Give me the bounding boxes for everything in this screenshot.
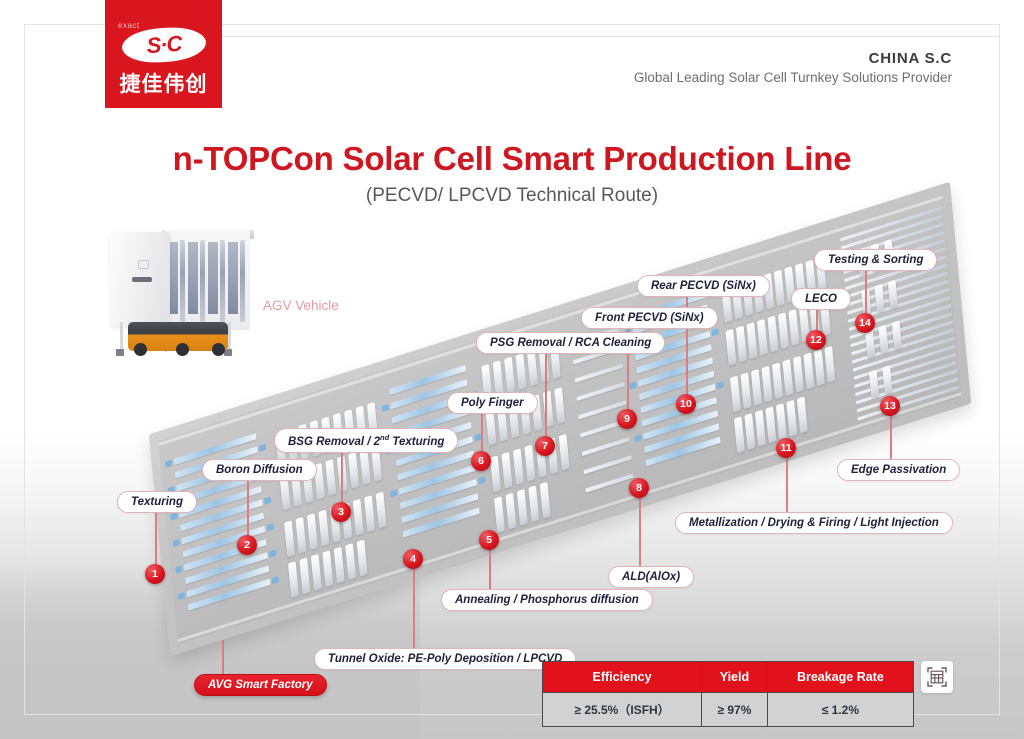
- step-marker-6[interactable]: 6: [471, 451, 491, 471]
- callout-bsg-removal-sup: nd: [380, 433, 389, 442]
- equipment-zone-tunnel-oxide: [481, 341, 577, 529]
- spec-table-header-row: Efficiency Yield Breakage Rate: [543, 662, 913, 693]
- table-grid-icon[interactable]: [921, 661, 953, 693]
- step-marker-7[interactable]: 7: [535, 436, 555, 456]
- callout-boron-diffusion[interactable]: Boron Diffusion: [202, 459, 317, 481]
- callout-front-pecvd[interactable]: Front PECVD (SiNx): [581, 307, 718, 329]
- connector-line-factory: [222, 640, 224, 678]
- callout-tunnel-oxide[interactable]: Tunnel Oxide: PE-Poly Deposition / LPCVD: [314, 648, 576, 670]
- callout-psg-removal[interactable]: PSG Removal / RCA Cleaning: [476, 332, 665, 354]
- connector-line-7: [545, 353, 547, 445]
- step-marker-13[interactable]: 13: [880, 396, 900, 416]
- connector-line-8: [639, 490, 641, 572]
- step-marker-5[interactable]: 5: [479, 530, 499, 550]
- callout-poly-finger[interactable]: Poly Finger: [447, 392, 538, 414]
- spec-header-yield: Yield: [702, 662, 768, 693]
- step-marker-4[interactable]: 4: [403, 549, 423, 569]
- logo-exact-text: exact: [118, 21, 140, 30]
- step-marker-9[interactable]: 9: [617, 409, 637, 429]
- callout-rear-pecvd[interactable]: Rear PECVD (SiNx): [637, 275, 770, 297]
- logo-sc-mark: S·C: [120, 25, 206, 65]
- slide-root: exact S·C 捷佳伟创 CHINA S.C Global Leading …: [0, 0, 1024, 739]
- spec-header-breakage-rate: Breakage Rate: [767, 662, 913, 693]
- page-subtitle: (PECVD/ LPCVD Technical Route): [0, 185, 1024, 207]
- step-marker-8[interactable]: 8: [629, 478, 649, 498]
- callout-bsg-removal-text: BSG Removal / 2: [288, 436, 380, 448]
- connector-line-11: [786, 450, 788, 512]
- callout-ald-alox[interactable]: ALD(AlOx): [608, 566, 694, 588]
- callout-bsg-removal[interactable]: BSG Removal / 2nd Texturing: [274, 428, 458, 453]
- connector-line-4: [413, 560, 415, 650]
- callout-avg-smart-factory[interactable]: AVG Smart Factory: [194, 674, 327, 696]
- callout-bsg-removal-tail: Texturing: [389, 436, 444, 448]
- company-logo: exact S·C 捷佳伟创: [105, 0, 222, 108]
- spec-table: Efficiency Yield Breakage Rate ≥ 25.5%（I…: [542, 661, 914, 727]
- page-title: n-TOPCon Solar Cell Smart Production Lin…: [0, 140, 1024, 178]
- callout-texturing[interactable]: Texturing: [117, 491, 197, 513]
- step-marker-1[interactable]: 1: [145, 564, 165, 584]
- company-tagline: Global Leading Solar Cell Turnkey Soluti…: [634, 70, 952, 85]
- header-divider: [222, 36, 1000, 37]
- step-marker-3[interactable]: 3: [331, 502, 351, 522]
- callout-edge-passivation[interactable]: Edge Passivation: [837, 459, 960, 481]
- equipment-zone-boron-diffusion: [273, 397, 394, 593]
- callout-metallization[interactable]: Metallization / Drying & Firing / Light …: [675, 512, 953, 534]
- step-marker-12[interactable]: 12: [806, 330, 826, 350]
- company-name: CHINA S.C: [634, 50, 952, 67]
- header-text-block: CHINA S.C Global Leading Solar Cell Turn…: [634, 50, 952, 85]
- callout-testing-sorting[interactable]: Testing & Sorting: [814, 249, 937, 271]
- spec-table-row: ≥ 25.5%（ISFH） ≥ 97% ≤ 1.2%: [543, 693, 913, 727]
- spec-value-breakage-rate: ≤ 1.2%: [767, 693, 913, 727]
- step-marker-2[interactable]: 2: [237, 535, 257, 555]
- connector-line-13: [890, 412, 892, 460]
- step-marker-14[interactable]: 14: [855, 313, 875, 333]
- callout-annealing[interactable]: Annealing / Phosphorus diffusion: [441, 589, 653, 611]
- step-marker-10[interactable]: 10: [676, 394, 696, 414]
- spec-header-efficiency: Efficiency: [543, 662, 702, 693]
- step-marker-11[interactable]: 11: [776, 438, 796, 458]
- spec-value-yield: ≥ 97%: [702, 693, 768, 727]
- callout-leco[interactable]: LECO: [791, 288, 851, 310]
- spec-value-efficiency: ≥ 25.5%（ISFH）: [543, 693, 702, 727]
- logo-chinese-name: 捷佳伟创: [120, 68, 208, 98]
